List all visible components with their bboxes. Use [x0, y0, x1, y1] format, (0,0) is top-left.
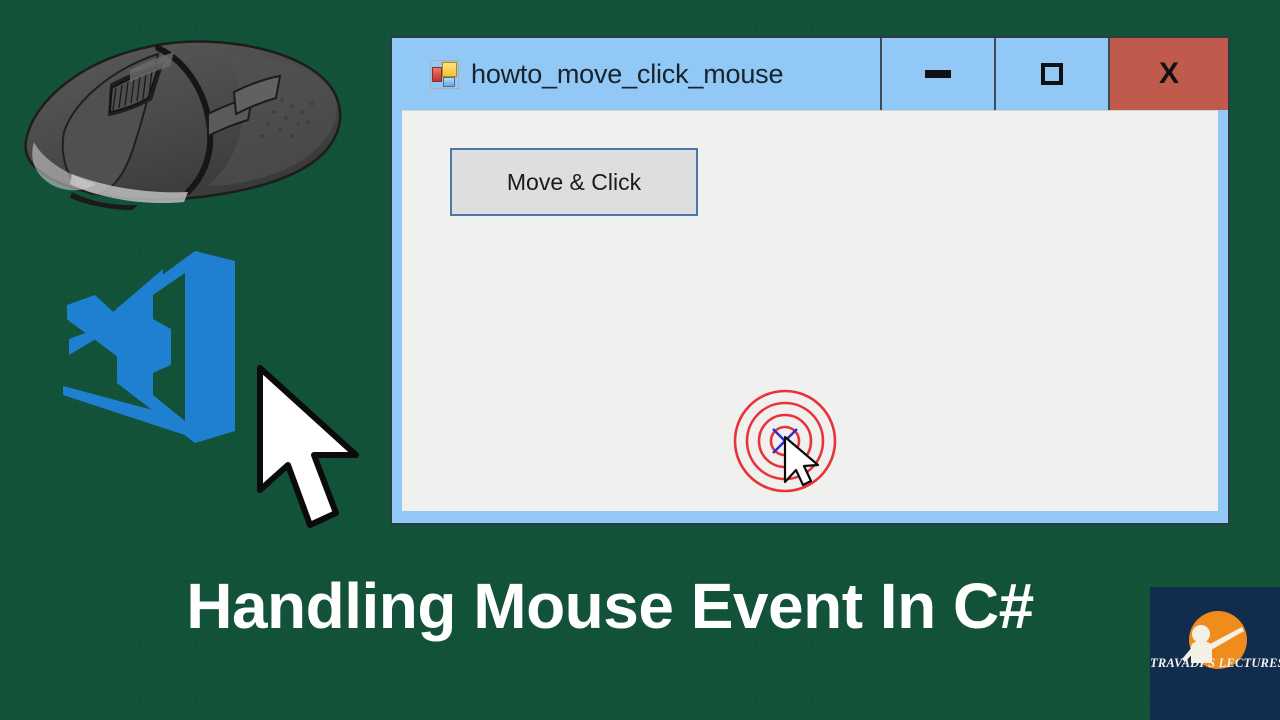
window-close-button[interactable]: X	[1108, 38, 1228, 110]
app-window: howto_move_click_mouse X Move & Click	[390, 36, 1230, 525]
window-titlebar[interactable]: howto_move_click_mouse X	[392, 38, 1228, 110]
window-maximize-button[interactable]	[994, 38, 1108, 110]
window-title-area: howto_move_click_mouse	[392, 38, 880, 110]
window-minimize-button[interactable]	[880, 38, 994, 110]
channel-logo-badge: TRAVADI'S LECTURES	[1150, 587, 1280, 720]
lecturer-sun-icon	[1150, 587, 1280, 720]
vscode-logo	[57, 243, 257, 448]
mouse-pointer-arrow-icon	[252, 362, 367, 537]
move-and-click-button[interactable]: Move & Click	[450, 148, 698, 216]
form-client-area: Move & Click	[402, 110, 1218, 511]
window-title: howto_move_click_mouse	[471, 59, 783, 90]
windows-forms-project-icon	[432, 62, 457, 87]
close-icon: X	[1159, 59, 1179, 89]
minimize-icon	[925, 70, 951, 78]
click-ripple-marker	[732, 388, 838, 494]
maximize-icon	[1041, 63, 1063, 85]
mouse-pointer-arrow-icon	[785, 437, 818, 485]
page-title: Handling Mouse Event In C#	[0, 573, 1280, 640]
channel-name: TRAVADI'S LECTURES	[1150, 656, 1280, 671]
move-and-click-button-label: Move & Click	[507, 169, 641, 196]
computer-mouse-illustration	[12, 22, 352, 212]
